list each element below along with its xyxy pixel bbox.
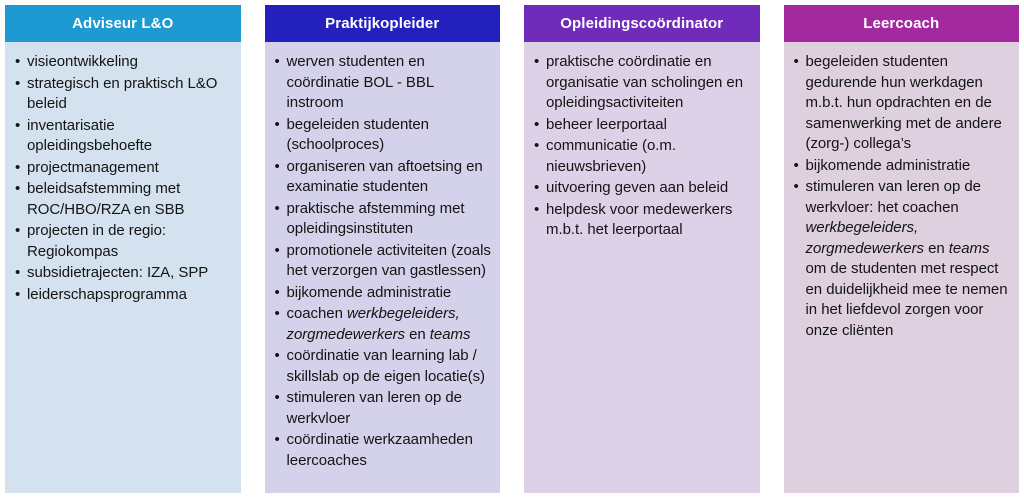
task-list-item: subsidietrajecten: IZA, SPP	[14, 263, 233, 284]
task-list-item: bijkomende administratie	[274, 283, 493, 304]
task-text: coördinatie van learning lab / skillslab…	[287, 347, 486, 385]
task-list-leercoach: begeleiden studenten gedurende hun werkd…	[793, 52, 1012, 341]
role-column-body-adviseur-lo: visieontwikkelingstrategisch en praktisc…	[5, 42, 241, 493]
task-list-item: coachen werkbegeleiders, zorgmedewerkers…	[274, 304, 493, 345]
task-text: coachen	[287, 305, 347, 322]
task-list-item: leiderschapsprogramma	[14, 285, 233, 306]
task-list-item: uitvoering geven aan beleid	[533, 178, 752, 199]
task-list-item: werven studenten en coördinatie BOL - BB…	[274, 52, 493, 114]
role-column-header-adviseur-lo: Adviseur L&O	[5, 5, 241, 42]
task-text: subsidietrajecten: IZA, SPP	[27, 264, 208, 281]
emphasis-text: werkbegeleiders, zorgmedewerkers	[806, 219, 924, 257]
task-text: leiderschapsprogramma	[27, 286, 187, 303]
role-column-adviseur-lo: Adviseur L&Ovisieontwikkelingstrategisch…	[5, 5, 241, 493]
task-list-item: strategisch en praktisch L&O beleid	[14, 74, 233, 115]
role-column-header-praktijkopleider: Praktijkopleider	[265, 5, 501, 42]
task-list-item: bijkomende administratie	[793, 156, 1012, 177]
role-column-body-leercoach: begeleiden studenten gedurende hun werkd…	[784, 42, 1020, 493]
task-list-adviseur-lo: visieontwikkelingstrategisch en praktisc…	[14, 52, 233, 305]
task-text: helpdesk voor medewerkers m.b.t. het lee…	[546, 201, 732, 239]
task-list-item: projecten in de regio: Regiokompas	[14, 221, 233, 262]
task-text: bijkomende administratie	[806, 157, 971, 174]
task-list-item: stimuleren van leren op de werkvloer: he…	[793, 177, 1012, 341]
emphasis-text: teams	[430, 326, 471, 343]
task-text: begeleiden studenten gedurende hun werkd…	[806, 53, 1002, 152]
task-list-item: promotionele activiteiten (zoals het ver…	[274, 241, 493, 282]
task-text: visieontwikkeling	[27, 53, 138, 70]
task-list-praktijkopleider: werven studenten en coördinatie BOL - BB…	[274, 52, 493, 471]
role-column-leercoach: Leercoachbegeleiden studenten gedurende …	[784, 5, 1020, 493]
task-list-item: communicatie (o.m. nieuwsbrieven)	[533, 136, 752, 177]
task-list-item: coördinatie van learning lab / skillslab…	[274, 346, 493, 387]
role-column-header-leercoach: Leercoach	[784, 5, 1020, 42]
task-list-item: begeleiden studenten (schoolproces)	[274, 115, 493, 156]
emphasis-text: teams	[949, 240, 990, 257]
role-columns-board: Adviseur L&Ovisieontwikkelingstrategisch…	[0, 0, 1024, 502]
task-list-item: helpdesk voor medewerkers m.b.t. het lee…	[533, 200, 752, 241]
task-text: projectmanagement	[27, 159, 159, 176]
task-text: inventarisatie opleidingsbehoefte	[27, 117, 152, 155]
task-text: bijkomende administratie	[287, 284, 452, 301]
task-list-item: visieontwikkeling	[14, 52, 233, 73]
task-list-item: beheer leerportaal	[533, 115, 752, 136]
task-list-item: praktische afstemming met opleidingsinst…	[274, 199, 493, 240]
role-column-opleidingscoordinator: Opleidingscoördinatorpraktische coördina…	[524, 5, 760, 493]
task-text: praktische afstemming met opleidingsinst…	[287, 200, 465, 238]
role-column-praktijkopleider: Praktijkopleiderwerven studenten en coör…	[265, 5, 501, 493]
task-text: stimuleren van leren op de werkvloer: he…	[806, 178, 981, 216]
task-list-item: beleidsafstemming met ROC/HBO/RZA en SBB	[14, 179, 233, 220]
task-list-opleidingscoordinator: praktische coördinatie en organisatie va…	[533, 52, 752, 241]
role-column-header-opleidingscoordinator: Opleidingscoördinator	[524, 5, 760, 42]
task-text: beleidsafstemming met ROC/HBO/RZA en SBB	[27, 180, 184, 218]
task-text: werven studenten en coördinatie BOL - BB…	[287, 53, 434, 111]
task-text: praktische coördinatie en organisatie va…	[546, 53, 743, 111]
task-list-item: organiseren van aftoetsing en examinatie…	[274, 157, 493, 198]
task-list-item: projectmanagement	[14, 158, 233, 179]
task-list-item: begeleiden studenten gedurende hun werkd…	[793, 52, 1012, 155]
task-text: communicatie (o.m. nieuwsbrieven)	[546, 137, 676, 175]
task-text: uitvoering geven aan beleid	[546, 179, 728, 196]
task-text: strategisch en praktisch L&O beleid	[27, 75, 217, 113]
task-text: coördinatie werkzaamheden leercoaches	[287, 431, 473, 469]
task-list-item: coördinatie werkzaamheden leercoaches	[274, 430, 493, 471]
task-text: projecten in de regio: Regiokompas	[27, 222, 166, 260]
task-list-item: stimuleren van leren op de werkvloer	[274, 388, 493, 429]
task-text: stimuleren van leren op de werkvloer	[287, 389, 462, 427]
task-text: organiseren van aftoetsing en examinatie…	[287, 158, 483, 196]
task-text: en	[924, 240, 949, 257]
task-list-item: praktische coördinatie en organisatie va…	[533, 52, 752, 114]
task-text: en	[405, 326, 430, 343]
task-text: beheer leerportaal	[546, 116, 667, 133]
role-column-body-opleidingscoordinator: praktische coördinatie en organisatie va…	[524, 42, 760, 493]
task-text: begeleiden studenten (schoolproces)	[287, 116, 429, 154]
task-list-item: inventarisatie opleidingsbehoefte	[14, 116, 233, 157]
task-text: om de studenten met respect en duidelijk…	[806, 260, 1008, 339]
role-column-body-praktijkopleider: werven studenten en coördinatie BOL - BB…	[265, 42, 501, 493]
task-text: promotionele activiteiten (zoals het ver…	[287, 242, 491, 280]
